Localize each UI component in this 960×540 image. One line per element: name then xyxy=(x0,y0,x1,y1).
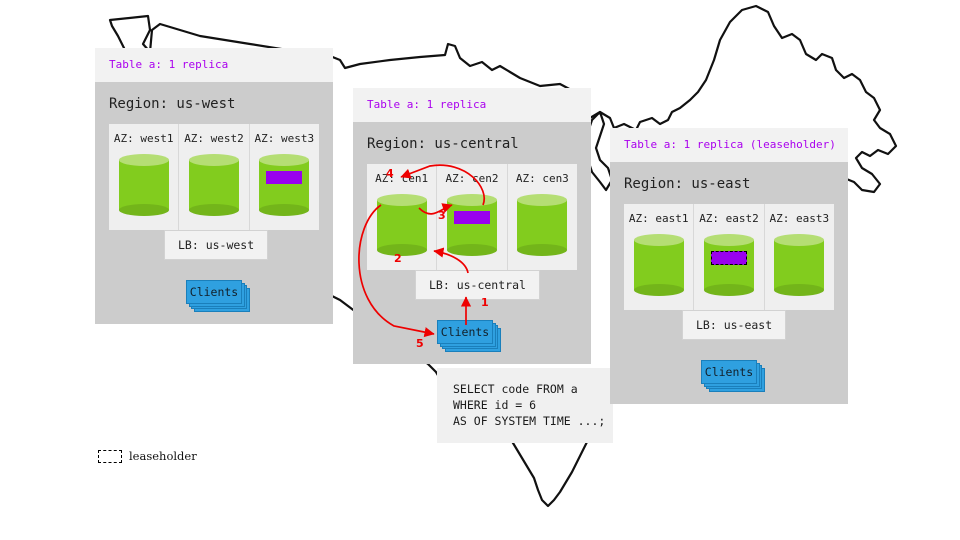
node-cylinder[interactable] xyxy=(774,234,824,296)
step-number-5: 5 xyxy=(416,337,424,350)
az-us-east-1[interactable]: AZ: east1 xyxy=(624,204,693,310)
cylinder-top xyxy=(259,154,309,166)
cylinder-top xyxy=(634,234,684,246)
node-cylinder[interactable] xyxy=(377,194,427,256)
region-title-us-east: Region: us-east xyxy=(610,162,848,204)
cylinder-top xyxy=(119,154,169,166)
region-panel-us-west: Table a: 1 replica Region: us-west AZ: w… xyxy=(95,48,333,324)
az-label: AZ: west3 xyxy=(255,132,315,145)
step-number-1: 1 xyxy=(481,296,489,309)
load-balancer-us-central[interactable]: LB: us-central xyxy=(415,270,540,300)
az-label: AZ: west2 xyxy=(184,132,244,145)
cylinder-body xyxy=(774,240,824,290)
cylinder-body xyxy=(447,200,497,250)
node-cylinder[interactable] xyxy=(189,154,239,216)
sql-query-box: SELECT code FROM a WHERE id = 6 AS OF SY… xyxy=(437,368,613,443)
cylinder-top xyxy=(774,234,824,246)
region-title-us-west: Region: us-west xyxy=(95,82,333,124)
cylinder-body xyxy=(189,160,239,210)
cylinder-top xyxy=(517,194,567,206)
region-caption-us-central: Table a: 1 replica xyxy=(353,88,591,122)
clients-label[interactable]: Clients xyxy=(186,280,242,304)
clients-stack-us-central[interactable]: Clients xyxy=(437,320,499,344)
cylinder-bottom xyxy=(189,204,239,216)
legend-leaseholder: leaseholder xyxy=(98,449,197,463)
az-us-central-3[interactable]: AZ: cen3 xyxy=(507,164,577,270)
load-balancer-us-west[interactable]: LB: us-west xyxy=(164,230,268,260)
clients-stack-us-west[interactable]: Clients xyxy=(186,280,248,304)
az-strip-us-west: AZ: west1 AZ: west2 AZ xyxy=(109,124,319,230)
az-label: AZ: east2 xyxy=(699,212,759,225)
cylinder-bottom xyxy=(259,204,309,216)
cylinder-body xyxy=(634,240,684,290)
replica-block-east2-leaseholder[interactable] xyxy=(711,251,747,265)
cylinder-bottom xyxy=(119,204,169,216)
leaseholder-swatch-icon xyxy=(98,450,122,463)
clients-label[interactable]: Clients xyxy=(701,360,757,384)
az-us-west-3[interactable]: AZ: west3 xyxy=(249,124,319,230)
region-caption-us-west: Table a: 1 replica xyxy=(95,48,333,82)
step-number-4: 4 xyxy=(386,167,394,180)
node-cylinder[interactable] xyxy=(447,194,497,256)
cylinder-top xyxy=(704,234,754,246)
step-number-3: 3 xyxy=(438,209,446,222)
node-cylinder[interactable] xyxy=(704,234,754,296)
cylinder-bottom xyxy=(704,284,754,296)
cylinder-bottom xyxy=(447,244,497,256)
replica-block-west3[interactable] xyxy=(266,171,302,184)
cylinder-body xyxy=(704,240,754,290)
az-label: AZ: cen1 xyxy=(375,172,428,185)
node-cylinder[interactable] xyxy=(517,194,567,256)
az-label: AZ: east3 xyxy=(770,212,830,225)
cylinder-body xyxy=(517,200,567,250)
az-us-central-1[interactable]: AZ: cen1 xyxy=(367,164,436,270)
cylinder-body xyxy=(119,160,169,210)
az-us-east-3[interactable]: AZ: east3 xyxy=(764,204,834,310)
az-us-central-2[interactable]: AZ: cen2 xyxy=(436,164,506,270)
region-caption-us-east: Table a: 1 replica (leaseholder) xyxy=(610,128,848,162)
node-cylinder[interactable] xyxy=(119,154,169,216)
step-number-2: 2 xyxy=(394,252,402,265)
region-panel-us-east: Table a: 1 replica (leaseholder) Region:… xyxy=(610,128,848,404)
replica-block-cen2[interactable] xyxy=(454,211,490,224)
cylinder-top xyxy=(447,194,497,206)
cylinder-bottom xyxy=(377,244,427,256)
load-balancer-us-east[interactable]: LB: us-east xyxy=(682,310,786,340)
cylinder-top xyxy=(189,154,239,166)
clients-label[interactable]: Clients xyxy=(437,320,493,344)
az-label: AZ: cen3 xyxy=(516,172,569,185)
az-label: AZ: east1 xyxy=(629,212,689,225)
az-label: AZ: west1 xyxy=(114,132,174,145)
az-label: AZ: cen2 xyxy=(446,172,499,185)
cylinder-body xyxy=(377,200,427,250)
legend-label: leaseholder xyxy=(129,449,197,463)
az-strip-us-east: AZ: east1 AZ: east2 xyxy=(624,204,834,310)
region-panel-us-central: Table a: 1 replica Region: us-central AZ… xyxy=(353,88,591,364)
diagram-canvas: Table a: 1 replica Region: us-west AZ: w… xyxy=(0,0,960,540)
region-title-us-central: Region: us-central xyxy=(353,122,591,164)
cylinder-body xyxy=(259,160,309,210)
cylinder-top xyxy=(377,194,427,206)
node-cylinder[interactable] xyxy=(634,234,684,296)
cylinder-bottom xyxy=(517,244,567,256)
az-us-east-2[interactable]: AZ: east2 xyxy=(693,204,763,310)
cylinder-bottom xyxy=(634,284,684,296)
node-cylinder[interactable] xyxy=(259,154,309,216)
clients-stack-us-east[interactable]: Clients xyxy=(701,360,763,384)
az-us-west-2[interactable]: AZ: west2 xyxy=(178,124,248,230)
cylinder-bottom xyxy=(774,284,824,296)
az-us-west-1[interactable]: AZ: west1 xyxy=(109,124,178,230)
